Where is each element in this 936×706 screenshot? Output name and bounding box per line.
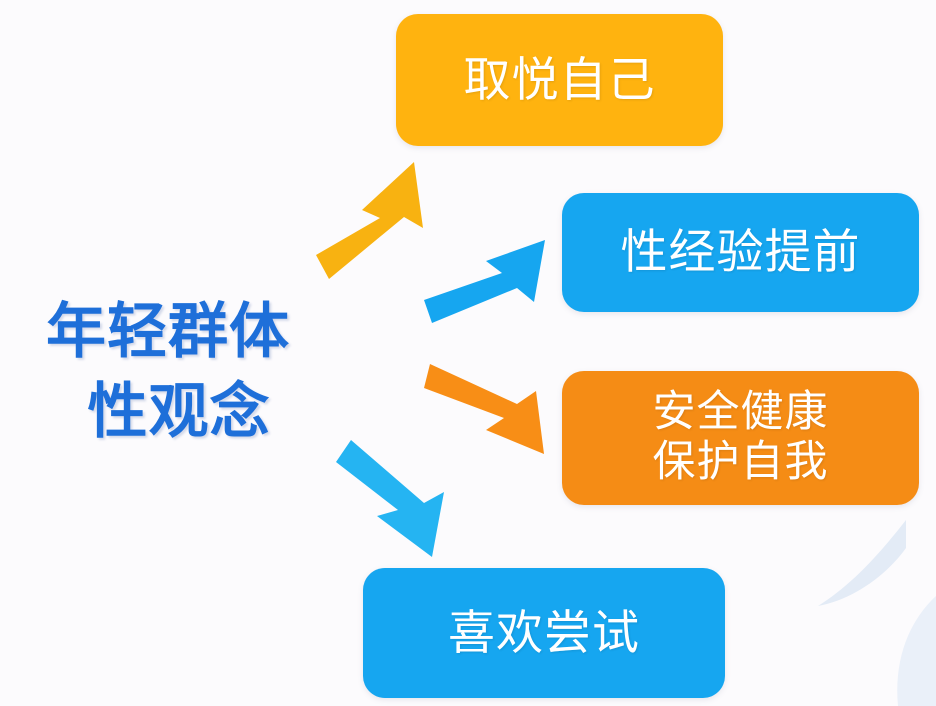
node-safe-healthy-self-protection[interactable]: 安全健康 保护自我 — [562, 371, 919, 505]
node-earlier-sexual-experience[interactable]: 性经验提前 — [562, 193, 919, 312]
page-title: 年轻群体 性观念 — [18, 292, 318, 452]
page-title-line-1: 年轻群体 — [18, 292, 318, 372]
arc-swoosh-icon — [897, 596, 936, 706]
arc-swoosh-icon — [818, 520, 906, 606]
node-please-yourself[interactable]: 取悦自己 — [396, 14, 723, 146]
node-label: 性经验提前 — [621, 225, 861, 280]
node-label: 取悦自己 — [464, 53, 656, 108]
node-label: 喜欢尝试 — [448, 606, 640, 661]
node-likes-to-try[interactable]: 喜欢尝试 — [363, 568, 725, 698]
page-title-line-2: 性观念 — [18, 372, 318, 452]
arrow-up-right-icon — [424, 228, 548, 324]
arrow-down-right-icon — [336, 440, 446, 558]
arrow-up-right-icon — [316, 162, 424, 280]
diagram-canvas: 年轻群体 性观念 取悦自己 性经验提前 安全健康 保护自我 喜欢尝试 — [0, 0, 936, 706]
node-label: 安全健康 保护自我 — [653, 388, 829, 488]
arc-swoosh-icon — [927, 600, 936, 700]
